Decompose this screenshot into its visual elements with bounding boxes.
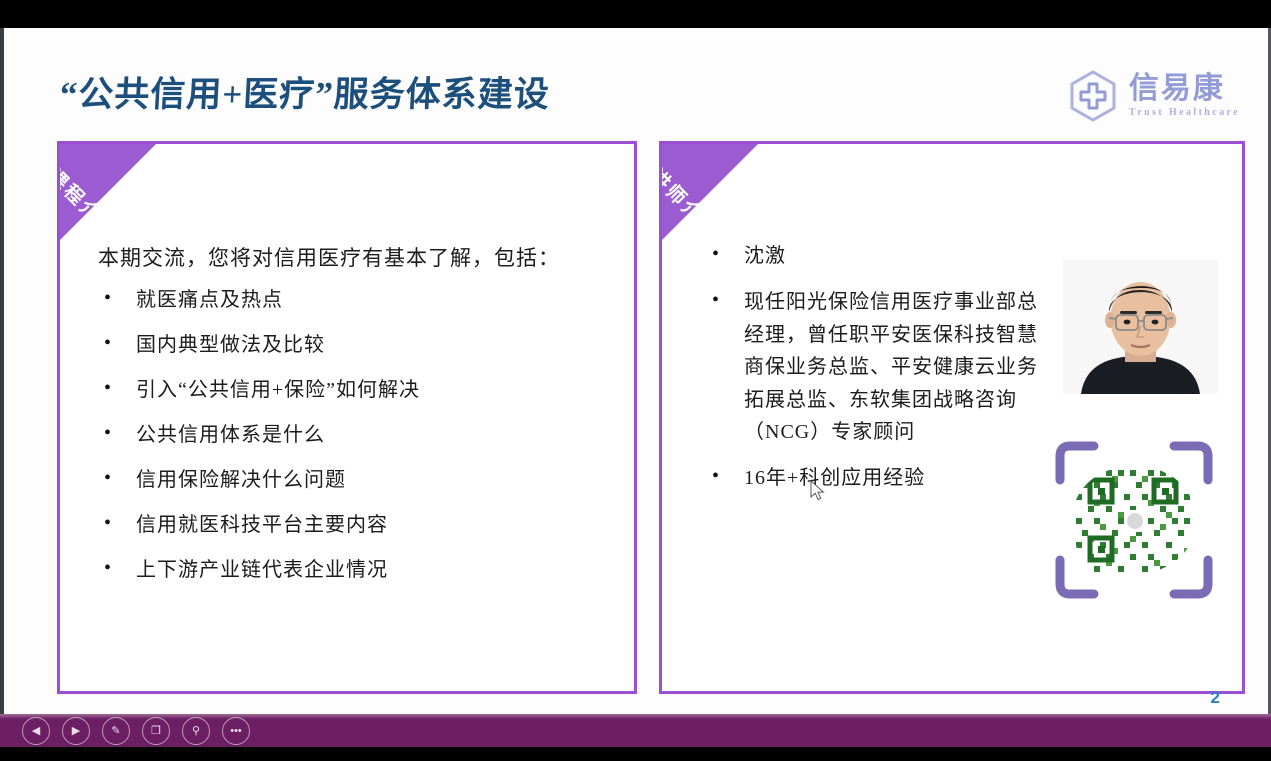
brand-name-en: Trust Healthcare (1129, 108, 1240, 118)
wechat-qr-code (1048, 434, 1220, 606)
next-slide-button[interactable]: ▶ (62, 717, 90, 745)
triangle-left-icon: ◀ (32, 724, 40, 737)
presentation-viewer: “公共信用+医疗”服务体系建设 信易康 Trust Healthcare 课程介… (0, 0, 1271, 761)
course-intro-panel: 课程介绍 本期交流，您将对信用医疗有基本了解，包括： 就医痛点及热点 国内典型做… (57, 141, 637, 694)
previous-slide-button[interactable]: ◀ (22, 717, 50, 745)
speaker-content: 沈激 现任阳光保险信用医疗事业部总经理，曾任职平安医保科技智慧商保业务总监、平安… (706, 240, 1056, 509)
course-intro-text: 本期交流，您将对信用医疗有基本了解，包括： (98, 242, 614, 272)
letterbox-top (0, 0, 1271, 28)
list-item: 信用就医科技平台主要内容 (98, 513, 614, 538)
slide-canvas: “公共信用+医疗”服务体系建设 信易康 Trust Healthcare 课程介… (4, 28, 1268, 714)
triangle-right-icon: ▶ (72, 724, 80, 737)
slide-title: “公共信用+医疗”服务体系建设 (59, 66, 552, 117)
speaker-bullet-list: 沈激 现任阳光保险信用医疗事业部总经理，曾任职平安医保科技智慧商保业务总监、平安… (706, 240, 1056, 495)
brand-wordmark: 信易康 Trust Healthcare (1129, 74, 1240, 118)
speaker-portrait (1063, 260, 1218, 394)
hexagon-cross-icon (1065, 68, 1121, 124)
list-item: 16年+科创应用经验 (706, 462, 1056, 494)
list-item: 公共信用体系是什么 (98, 423, 614, 448)
pages-icon: ❐ (151, 724, 161, 737)
course-ribbon (60, 144, 156, 240)
speaker-ribbon (662, 144, 758, 240)
search-button[interactable]: ⚲ (182, 717, 210, 745)
course-bullet-list: 就医痛点及热点 国内典型做法及比较 引入“公共信用+保险”如何解决 公共信用体系… (98, 288, 614, 583)
speaker-intro-panel: 讲师介绍 沈激 现任阳光保险信用医疗事业部总经理，曾任职平安医保科技智慧商保业务… (659, 141, 1245, 694)
more-options-button[interactable]: ••• (222, 717, 250, 745)
magnifier-icon: ⚲ (192, 724, 200, 737)
list-item: 上下游产业链代表企业情况 (98, 558, 614, 583)
pages-button[interactable]: ❐ (142, 717, 170, 745)
list-item: 沈激 (706, 240, 1056, 272)
list-item: 信用保险解决什么问题 (98, 468, 614, 493)
list-item: 现任阳光保险信用医疗事业部总经理，曾任职平安医保科技智慧商保业务总监、平安健康云… (706, 286, 1056, 448)
ellipsis-icon: ••• (230, 725, 242, 737)
pen-icon: ✎ (111, 724, 120, 737)
list-item: 就医痛点及热点 (98, 288, 614, 313)
page-number: 2 (1211, 688, 1220, 708)
course-content: 本期交流，您将对信用医疗有基本了解，包括： 就医痛点及热点 国内典型做法及比较 … (98, 242, 614, 603)
list-item: 国内典型做法及比较 (98, 333, 614, 358)
pen-tool-button[interactable]: ✎ (102, 717, 130, 745)
brand-logo: 信易康 Trust Healthcare (1065, 68, 1240, 124)
brand-name-cn: 信易康 (1129, 74, 1240, 104)
list-item: 引入“公共信用+保险”如何解决 (98, 378, 614, 403)
letterbox-bottom (0, 747, 1271, 761)
presentation-toolbar[interactable]: ◀ ▶ ✎ ❐ ⚲ ••• (0, 714, 1271, 747)
